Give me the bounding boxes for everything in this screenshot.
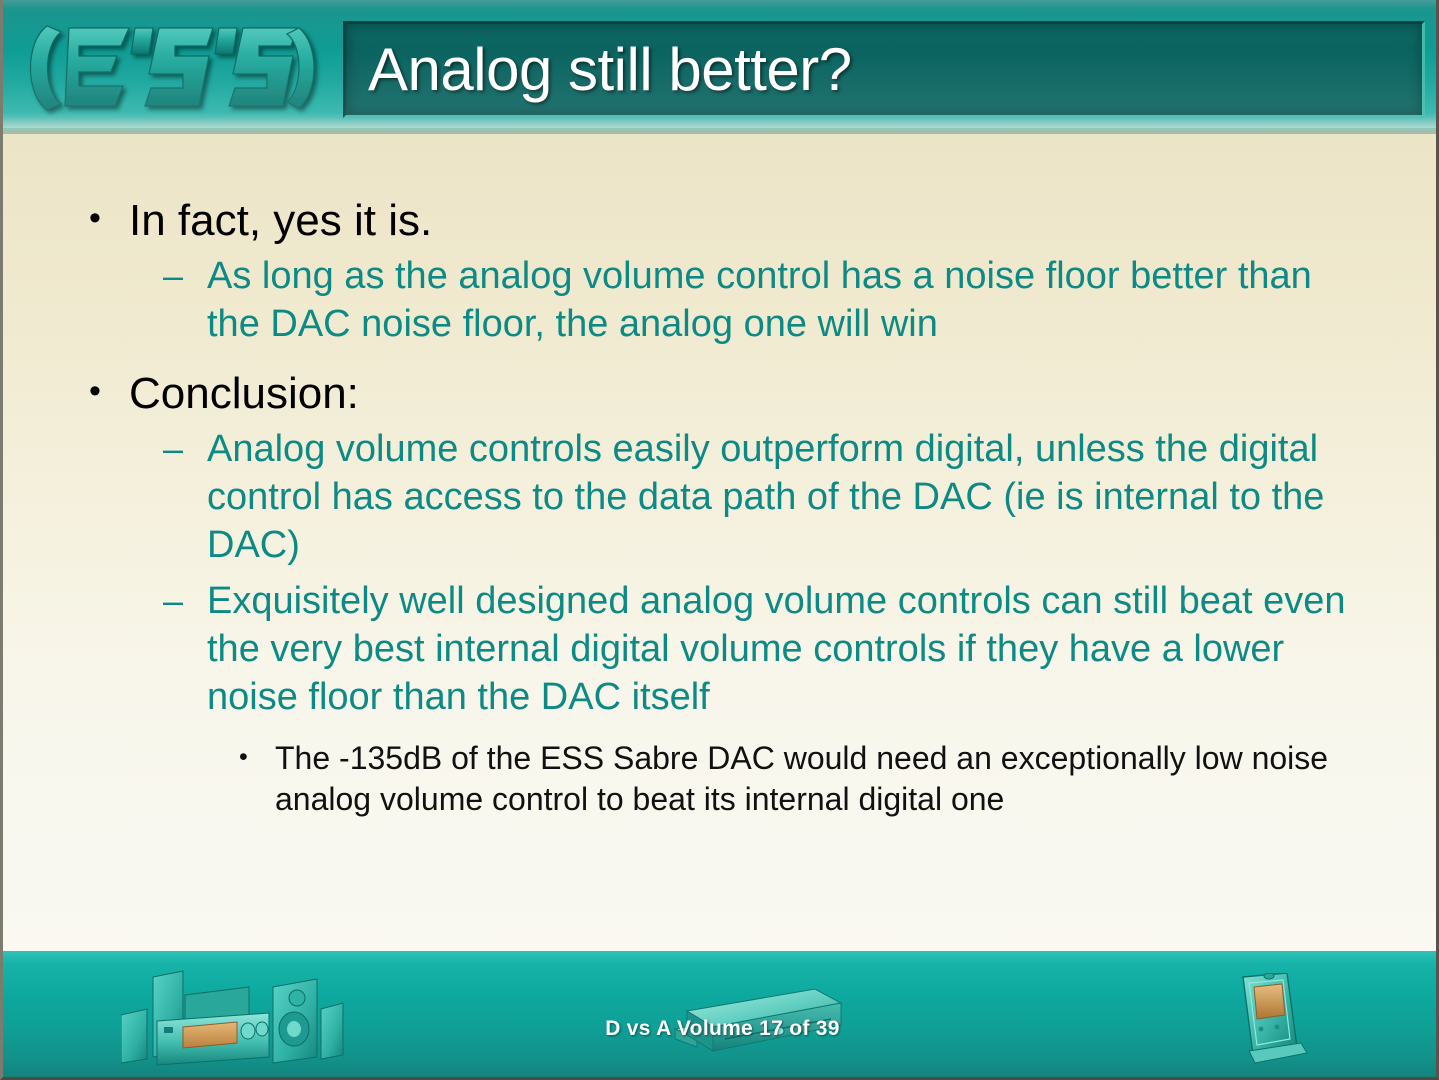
slide-footer: D vs A Volume 17 of 39 xyxy=(3,951,1439,1077)
footer-caption: D vs A Volume 17 of 39 xyxy=(3,1017,1439,1041)
bullet-text: The -135dB of the ESS Sabre DAC would ne… xyxy=(275,738,1335,821)
bullet-text: Analog volume controls easily outperform… xyxy=(207,426,1357,570)
spacer xyxy=(67,351,1382,369)
page-title: Analog still better? xyxy=(346,40,852,100)
bullet-marker-dash: – xyxy=(163,578,207,625)
bullet-marker-dot: • xyxy=(239,738,275,777)
presentation-slide: Analog still better? • In fact, yes it i… xyxy=(0,0,1439,1080)
bullet-level2: – Analog volume controls easily outperfo… xyxy=(67,426,1382,570)
bullet-marker-dash: – xyxy=(163,426,207,473)
bullet-level3: • The -135dB of the ESS Sabre DAC would … xyxy=(67,738,1382,821)
slide-title-plaque: Analog still better? xyxy=(343,21,1425,118)
bullet-text: Conclusion: xyxy=(129,369,1382,418)
bullet-marker-dot: • xyxy=(67,196,129,242)
bullet-level1: • Conclusion: xyxy=(67,369,1382,418)
slide-header: Analog still better? xyxy=(3,0,1439,134)
bullet-text: In fact, yes it is. xyxy=(129,196,1382,245)
slide-body: • In fact, yes it is. – As long as the a… xyxy=(3,134,1439,954)
bullet-level2: – Exquisitely well designed analog volum… xyxy=(67,578,1382,722)
bullet-text: As long as the analog volume control has… xyxy=(207,253,1357,349)
bullet-level1: • In fact, yes it is. xyxy=(67,196,1382,245)
bullet-marker-dot: • xyxy=(67,369,129,415)
bullet-level2: – As long as the analog volume control h… xyxy=(67,253,1382,349)
bullet-text: Exquisitely well designed analog volume … xyxy=(207,578,1357,722)
ess-logo-icon xyxy=(17,12,329,122)
bullet-marker-dash: – xyxy=(163,253,207,300)
